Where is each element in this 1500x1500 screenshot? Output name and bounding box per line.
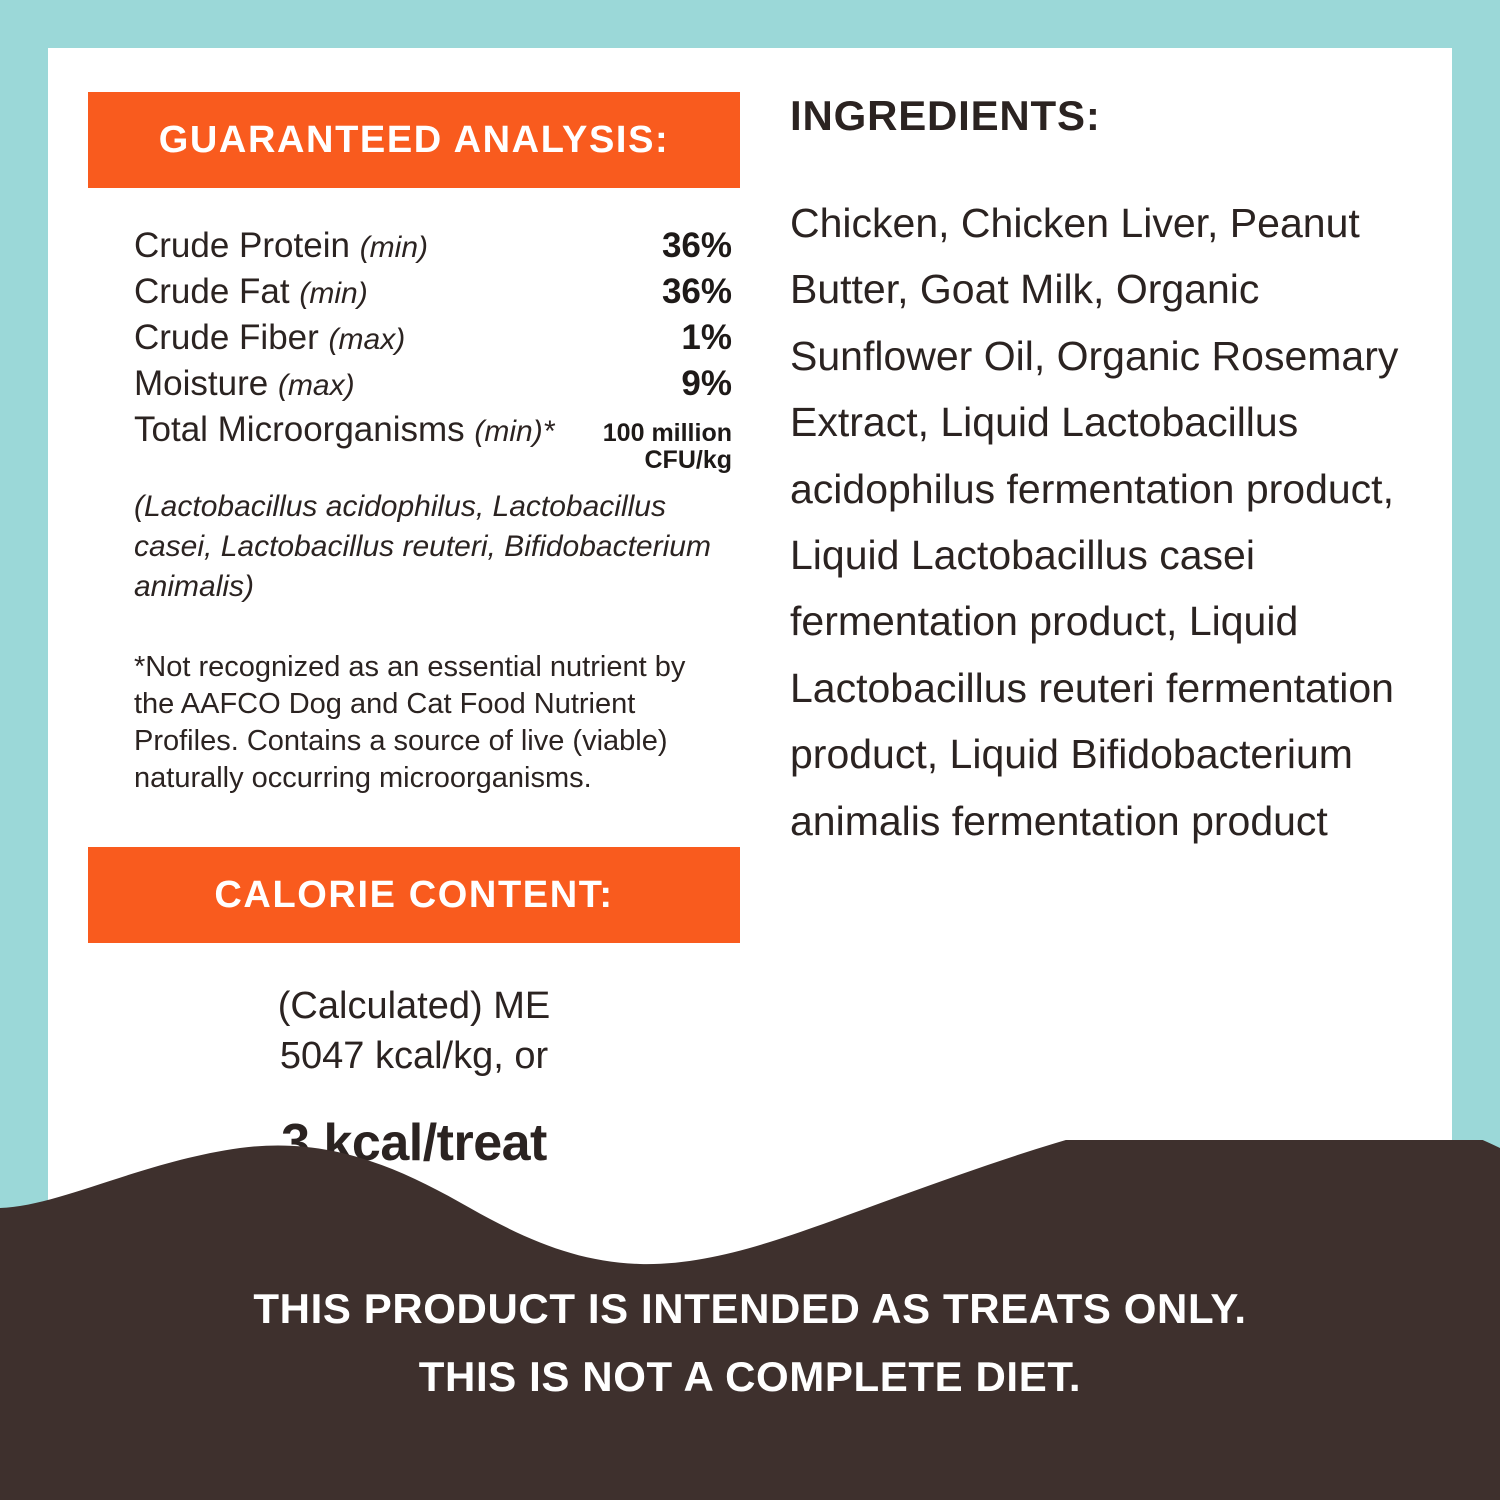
table-row: Crude Fiber (max) 1%: [134, 318, 732, 358]
guaranteed-analysis-header-bar: GUARANTEED ANALYSIS:: [88, 92, 740, 188]
nutrient-label: Total Microorganisms: [134, 410, 465, 449]
nutrient-qualifier: (min): [299, 277, 367, 310]
table-row: Crude Protein (min) 36%: [134, 226, 732, 266]
nutrient-name: Moisture (max): [134, 364, 355, 404]
nutrient-label: Crude Fat: [134, 272, 290, 311]
footer-line-1: THIS PRODUCT IS INTENDED AS TREATS ONLY.: [253, 1275, 1246, 1343]
calorie-content-heading: CALORIE CONTENT:: [214, 874, 613, 917]
nutrient-value: 9%: [681, 364, 732, 404]
probiotic-cultures-list: (Lactobacillus acidophilus, Lactobacillu…: [88, 487, 740, 607]
nutrient-qualifier: (min)*: [474, 415, 554, 448]
table-row: Crude Fat (min) 36%: [134, 272, 732, 312]
nutrient-value: 36%: [662, 272, 732, 312]
footer-wave-band: THIS PRODUCT IS INTENDED AS TREATS ONLY.…: [0, 1140, 1500, 1500]
ingredients-heading: INGREDIENTS:: [790, 92, 1420, 140]
ingredients-column: INGREDIENTS: Chicken, Chicken Liver, Pea…: [790, 92, 1420, 854]
nutrient-qualifier: (max): [278, 369, 355, 402]
aafco-footnote: *Not recognized as an essential nutrient…: [88, 649, 740, 797]
nutrient-name: Crude Fiber (max): [134, 318, 405, 358]
nutrient-name: Crude Fat (min): [134, 272, 368, 312]
guaranteed-analysis-column: GUARANTEED ANALYSIS: Crude Protein (min)…: [88, 92, 740, 1173]
calorie-me-line2: 5047 kcal/kg, or: [280, 1035, 548, 1077]
nutrient-value-line2: CFU/kg: [645, 446, 733, 474]
nutrient-name: Total Microorganisms (min)*: [134, 410, 554, 450]
table-row: Total Microorganisms (min)* 100 millionC…: [134, 410, 732, 473]
guaranteed-analysis-table: Crude Protein (min) 36% Crude Fat (min) …: [88, 226, 740, 473]
nutrient-qualifier: (min): [360, 231, 428, 264]
nutrient-value-line1: 100 million: [603, 419, 732, 447]
table-row: Moisture (max) 9%: [134, 364, 732, 404]
nutrient-label: Moisture: [134, 364, 268, 403]
guaranteed-analysis-heading: GUARANTEED ANALYSIS:: [159, 119, 670, 162]
calorie-content-section: CALORIE CONTENT: (Calculated) ME 5047 kc…: [88, 847, 740, 1173]
nutrient-value: 1%: [681, 318, 732, 358]
footer-disclaimer: THIS PRODUCT IS INTENDED AS TREATS ONLY.…: [0, 1140, 1500, 1500]
calorie-content-header-bar: CALORIE CONTENT:: [88, 847, 740, 943]
nutrient-qualifier: (max): [329, 323, 406, 356]
footer-line-2: THIS IS NOT A COMPLETE DIET.: [419, 1343, 1081, 1411]
label-content-area: GUARANTEED ANALYSIS: Crude Protein (min)…: [48, 48, 1452, 1228]
nutrient-label: Crude Protein: [134, 226, 350, 265]
nutrient-label: Crude Fiber: [134, 318, 319, 357]
calorie-me-value: (Calculated) ME 5047 kcal/kg, or: [88, 981, 740, 1081]
nutrient-value: 36%: [662, 226, 732, 266]
nutrient-value: 100 millionCFU/kg: [603, 420, 732, 473]
ingredients-list: Chicken, Chicken Liver, Peanut Butter, G…: [790, 190, 1420, 854]
nutrient-name: Crude Protein (min): [134, 226, 428, 266]
calorie-me-line1: (Calculated) ME: [278, 985, 550, 1027]
